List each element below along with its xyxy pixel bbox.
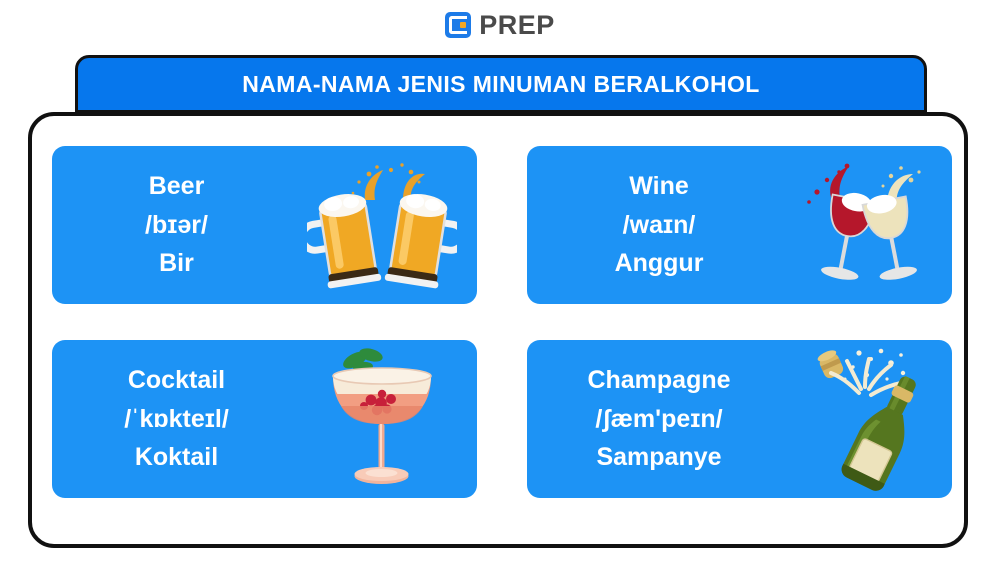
- page-title: NAMA-NAMA JENIS MINUMAN BERALKOHOL: [242, 71, 759, 98]
- translation-wine: Anggur: [615, 245, 704, 282]
- ipa-cocktail: /ˈkɒkteɪl/: [124, 401, 229, 438]
- ipa-wine: /waɪn/: [623, 207, 696, 244]
- brand-name: PREP: [479, 12, 555, 39]
- vocabulary-card-beer[interactable]: Beer /bɪər/ Bir: [52, 146, 477, 304]
- word-beer: Beer: [149, 168, 205, 205]
- card-text-champagne: Champagne /ʃæm'peɪn/ Sampanye: [527, 362, 777, 476]
- word-champagne: Champagne: [587, 362, 730, 399]
- cocktail-glass-icon: [287, 340, 477, 498]
- logo-dot-shape: [460, 22, 466, 28]
- title-banner: NAMA-NAMA JENIS MINUMAN BERALKOHOL: [75, 55, 927, 113]
- vocabulary-card-champagne[interactable]: Champagne /ʃæm'peɪn/ Sampanye: [527, 340, 952, 498]
- vocabulary-card-cocktail[interactable]: Cocktail /ˈkɒkteɪl/ Koktail: [52, 340, 477, 498]
- vocabulary-card-grid: Beer /bɪər/ Bir: [52, 146, 952, 498]
- ipa-champagne: /ʃæm'peɪn/: [595, 401, 722, 438]
- infographic-page: PREP PREP NAMA-NAMA JENIS MINUMAN BERALK…: [0, 0, 1000, 563]
- translation-cocktail: Koktail: [135, 439, 218, 476]
- translation-champagne: Sampanye: [596, 439, 721, 476]
- prep-logo-icon: [445, 12, 471, 38]
- word-wine: Wine: [629, 168, 689, 205]
- vocabulary-card-wine[interactable]: Wine /waɪn/ Anggur: [527, 146, 952, 304]
- translation-beer: Bir: [159, 245, 194, 282]
- ipa-beer: /bɪər/: [145, 207, 208, 244]
- card-text-cocktail: Cocktail /ˈkɒkteɪl/ Koktail: [52, 362, 287, 476]
- card-text-beer: Beer /bɪər/ Bir: [52, 168, 287, 282]
- clinking-wine-glasses-icon: [777, 146, 952, 304]
- clinking-beer-mugs-icon: [287, 146, 477, 304]
- word-cocktail: Cocktail: [128, 362, 225, 399]
- popping-champagne-bottle-icon: [777, 340, 952, 498]
- brand-header: PREP: [0, 0, 1000, 50]
- card-text-wine: Wine /waɪn/ Anggur: [527, 168, 777, 282]
